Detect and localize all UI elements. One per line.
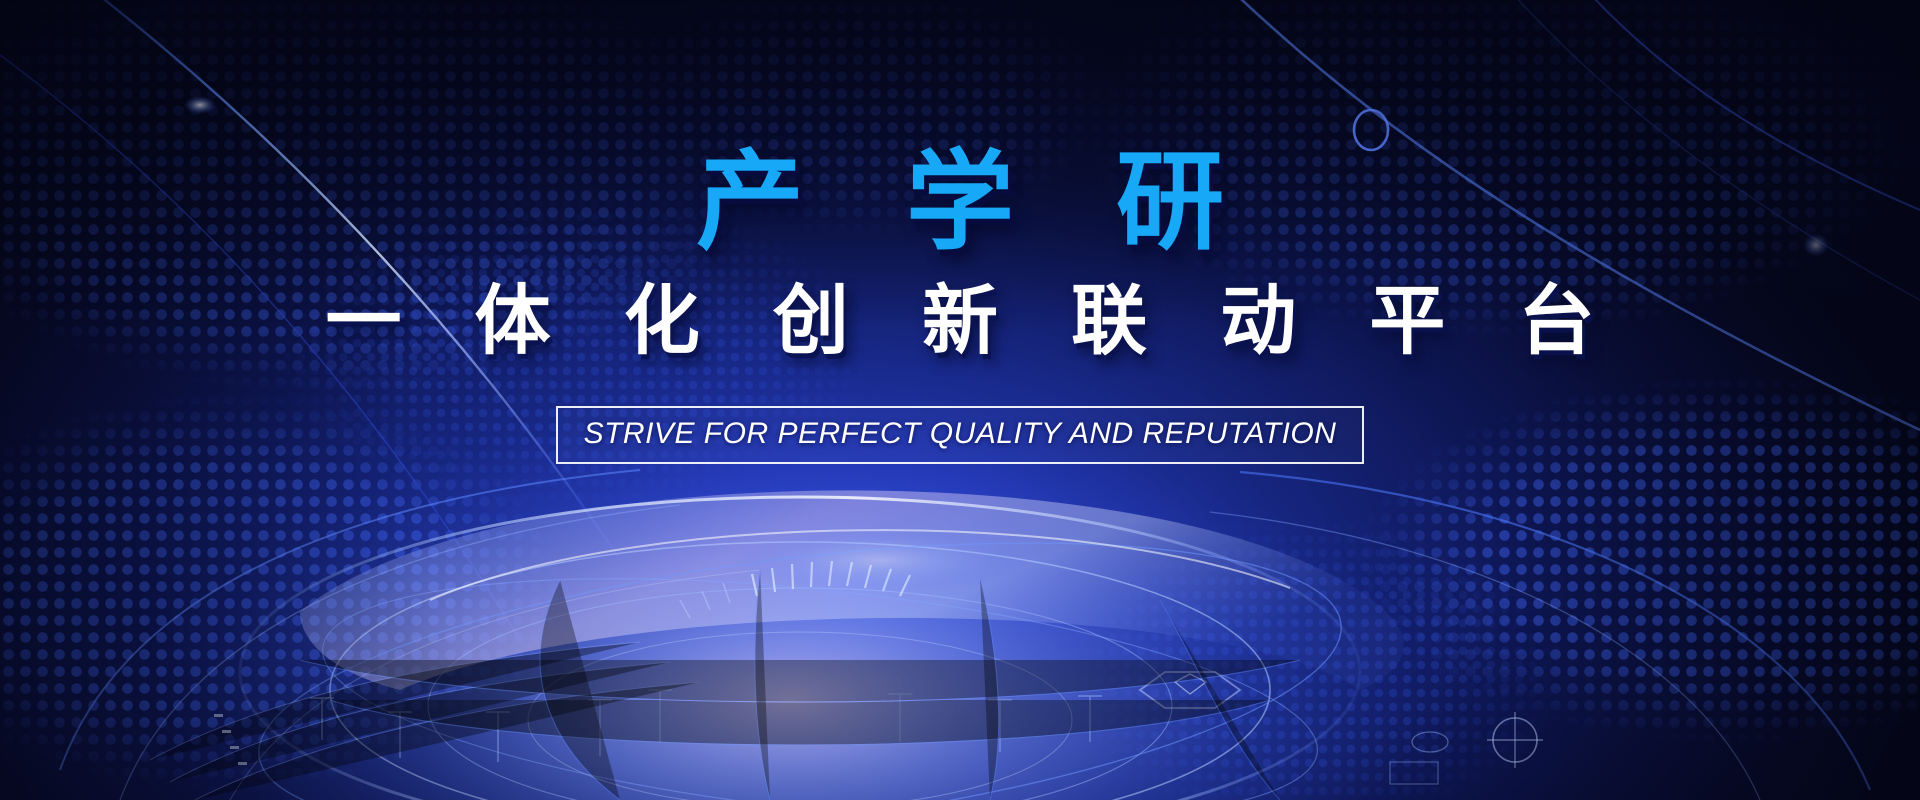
banner-content: 产 学 研 一 体 化 创 新 联 动 平 台 STRIVE FOR PERFE… [0, 0, 1920, 800]
tagline-box: STRIVE FOR PERFECT QUALITY AND REPUTATIO… [556, 406, 1365, 464]
banner-main-title: 产 学 研 [660, 148, 1260, 256]
banner-tagline: STRIVE FOR PERFECT QUALITY AND REPUTATIO… [584, 417, 1337, 450]
tech-banner: 产 学 研 一 体 化 创 新 联 动 平 台 STRIVE FOR PERFE… [0, 0, 1920, 800]
banner-subtitle: 一 体 化 创 新 联 动 平 台 [300, 284, 1621, 360]
